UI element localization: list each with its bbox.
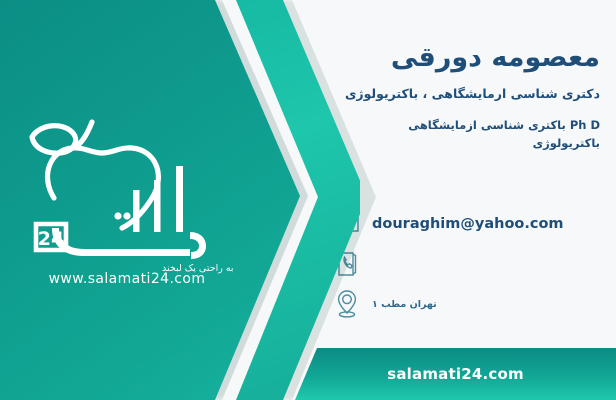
business-card: 24 به راحتی یک لبخند www.salamati24.com …: [0, 0, 616, 400]
footer-website[interactable]: salamati24.com: [387, 365, 524, 383]
footer-bar: salamati24.com: [295, 348, 616, 400]
salamati24-logo: 24 به راحتی یک لبخند: [14, 106, 240, 276]
logo-url-wrap: www.salamati24.com: [14, 268, 240, 287]
card-content: معصومه دورقی دکتری شناسی ارمایشگاهی ، با…: [316, 0, 616, 400]
degree-block: Ph D باکتری شناسی ازمایشگاهی باکتریولوژی: [316, 102, 600, 153]
profile-name: معصومه دورقی: [316, 0, 600, 73]
degree-line-1: Ph D باکتری شناسی ازمایشگاهی: [316, 117, 600, 135]
degree-line-2: باکتریولوژی: [316, 135, 600, 153]
logo-website-url: www.salamati24.com: [49, 271, 206, 287]
logo-badge-24: 24: [38, 228, 64, 250]
profile-specialty: دکتری شناسی ارمایشگاهی ، باکتریولوژی: [316, 73, 600, 102]
